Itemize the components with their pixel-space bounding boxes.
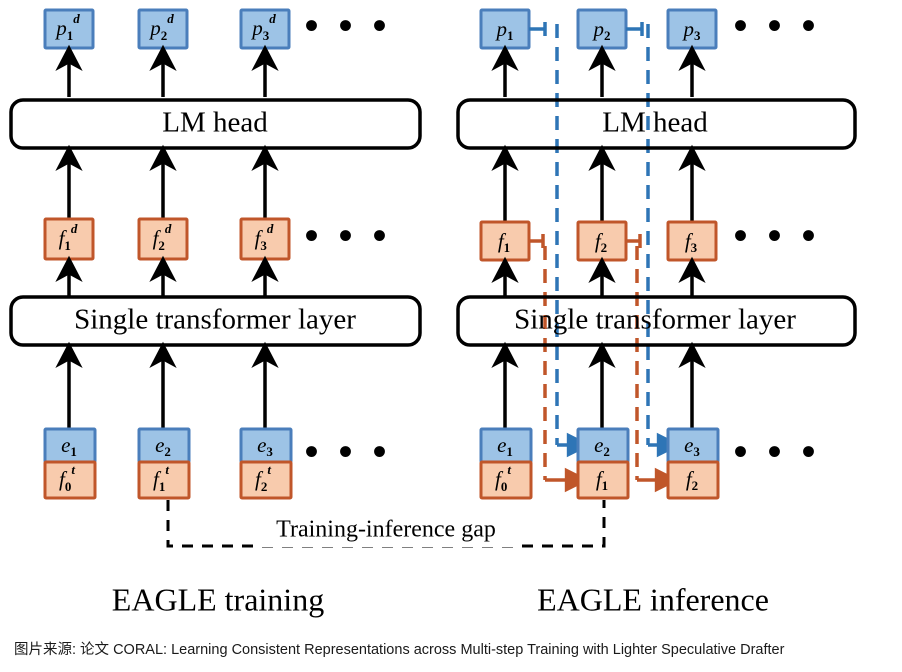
input-feature-box-f1t: f1t: [139, 462, 189, 498]
output-box-p3d: p3d: [241, 10, 289, 48]
embedding-box-e1-inference: e1: [481, 429, 531, 462]
output-box-p1d-sub: 1: [67, 28, 74, 43]
feature-box-f3d-sub: 3: [260, 238, 267, 253]
output-ellipsis-inference: • • •: [733, 3, 820, 48]
feature-box-f1-sub: 1: [504, 240, 511, 255]
feature-box-f2: f2: [578, 222, 626, 260]
output-ellipsis-training: • • •: [304, 3, 391, 48]
input-ellipsis-inference: • • •: [733, 429, 820, 474]
embedding-box-e3-base: e: [257, 433, 266, 457]
transformer-box-inference: Single transformer layer: [458, 297, 855, 345]
output-box-p1d-sup: d: [73, 11, 80, 26]
output-box-p2d-sub: 2: [161, 28, 168, 43]
eagle-diagram: p1d p2d p3d • • •: [0, 0, 902, 672]
output-box-p2-base: p: [592, 17, 605, 41]
embedding-box-e2-inference-base: e: [594, 433, 603, 457]
output-box-group-training: p1d p2d p3d • • •: [45, 3, 392, 48]
output-box-p1-sub: 1: [507, 28, 514, 43]
input-feature-box-f1-inference-sub: 1: [602, 478, 609, 493]
output-box-p2d-sup: d: [167, 11, 174, 26]
feature-box-f1: f1: [481, 222, 529, 260]
input-feature-box-f1t-sub: 1: [159, 479, 166, 494]
input-stack-group-inference: e1 f0t e2: [481, 429, 821, 498]
output-box-p1: p1: [481, 10, 529, 48]
input-feature-box-f0t-inference-sup: t: [507, 462, 511, 477]
embedding-box-e2-base: e: [155, 433, 164, 457]
feature-box-f3-sub: 3: [691, 240, 698, 255]
embedding-box-e2-sub: 2: [164, 444, 171, 459]
figure-canvas: p1d p2d p3d • • •: [0, 0, 902, 672]
output-box-p2d: p2d: [139, 10, 187, 48]
input-feature-box-f2t-sub: 2: [261, 479, 268, 494]
output-box-p1d-base: p: [54, 16, 67, 40]
output-box-p2-sub: 2: [604, 28, 611, 43]
arrow-group-input-to-transformer-inference: [505, 355, 692, 430]
embedding-box-e2: e2: [139, 429, 189, 462]
feature-box-group-inference: f1 f2 f3 • • •: [481, 213, 821, 260]
input-feature-box-f0t-inference: f0t: [481, 462, 531, 498]
feature-box-f3d: f3d: [241, 219, 289, 259]
input-feature-box-f0t-sub: 0: [65, 479, 72, 494]
input-feature-box-f0t: f0t: [45, 462, 95, 498]
output-box-p3d-sup: d: [269, 11, 276, 26]
feature-ellipsis-inference: • • •: [733, 213, 820, 258]
training-inference-gap-annotation: Training-inference gap: [168, 500, 604, 547]
input-feature-box-f0t-sup: t: [71, 462, 75, 477]
arrow-group-input-to-transformer-training: [69, 355, 265, 430]
embedding-box-e3: e3: [241, 429, 291, 462]
panel-title-eagle-inference: EAGLE inference: [537, 581, 769, 617]
embedding-box-e3-sub: 3: [266, 444, 273, 459]
feature-box-f1d: f1d: [45, 219, 93, 259]
embedding-box-e1-sub: 1: [70, 444, 77, 459]
output-box-p2d-base: p: [148, 16, 161, 40]
feature-box-f2d-sup: d: [165, 221, 172, 236]
arrow-group-lmhead-to-output-inference: [505, 58, 692, 97]
embedding-box-e3-inference: e3: [668, 429, 718, 462]
output-box-p2: p2: [578, 10, 626, 48]
input-stack-group-training: e1 f0t e2: [45, 429, 392, 498]
feature-ellipsis-training: • • •: [304, 213, 391, 258]
transformer-box-training: Single transformer layer: [11, 297, 420, 345]
output-box-p3-sub: 3: [694, 28, 701, 43]
feature-box-f2d-sub: 2: [158, 238, 165, 253]
input-feature-box-f2-inference: f2: [668, 462, 718, 498]
embedding-box-e1-base: e: [61, 433, 70, 457]
embedding-box-e2-inference: e2: [578, 429, 628, 462]
arrow-group-lmhead-to-output-training: [69, 58, 265, 97]
output-box-p3d-base: p: [250, 16, 263, 40]
input-feature-box-f2-inference-sub: 2: [692, 478, 699, 493]
feature-box-f2d: f2d: [139, 219, 187, 259]
output-box-group-inference: p1 p2 p3 • • •: [481, 3, 821, 48]
feature-box-f2-sub: 2: [601, 240, 608, 255]
source-caption: 图片来源: 论文 CORAL: Learning Consistent Repr…: [14, 638, 784, 659]
input-feature-box-f1t-sup: t: [165, 462, 169, 477]
lm-head-box-inference: LM head: [458, 100, 855, 148]
embedding-box-e1: e1: [45, 429, 95, 462]
embedding-box-e3-inference-sub: 3: [693, 444, 700, 459]
arrow-group-transformer-to-feature-inference: [505, 270, 692, 297]
arrow-group-transformer-to-feature-training: [69, 269, 265, 297]
output-box-p1-base: p: [495, 17, 508, 41]
embedding-box-e1-inference-sub: 1: [506, 444, 513, 459]
embedding-box-e3-inference-base: e: [684, 433, 693, 457]
lm-head-label-training: LM head: [162, 107, 268, 139]
input-feature-box-f2t-sup: t: [267, 462, 271, 477]
embedding-box-e1-inference-base: e: [497, 433, 506, 457]
feature-box-group-training: f1d f2d f3d • • •: [45, 213, 392, 259]
feature-box-f1d-sub: 1: [64, 238, 71, 253]
output-box-p3-base: p: [682, 17, 695, 41]
output-box-p1d: p1d: [45, 10, 93, 48]
input-feature-box-f1-inference: f1: [578, 462, 628, 498]
feature-box-f3d-sup: d: [267, 221, 274, 236]
input-feature-box-f0t-inference-sub: 0: [501, 479, 508, 494]
transformer-label-training: Single transformer layer: [74, 304, 356, 336]
transformer-label-inference: Single transformer layer: [514, 304, 796, 336]
gap-label: Training-inference gap: [276, 517, 496, 543]
output-box-p3: p3: [668, 10, 716, 48]
lm-head-box-training: LM head: [11, 100, 420, 148]
feature-box-f3: f3: [668, 222, 716, 260]
input-feature-box-f2t: f2t: [241, 462, 291, 498]
feature-box-f1d-sup: d: [71, 221, 78, 236]
panel-title-eagle-training: EAGLE training: [112, 581, 324, 617]
embedding-box-e2-inference-sub: 2: [603, 444, 610, 459]
input-ellipsis-training: • • •: [304, 429, 391, 474]
output-box-p3d-sub: 3: [263, 28, 270, 43]
lm-head-label-inference: LM head: [602, 107, 708, 139]
